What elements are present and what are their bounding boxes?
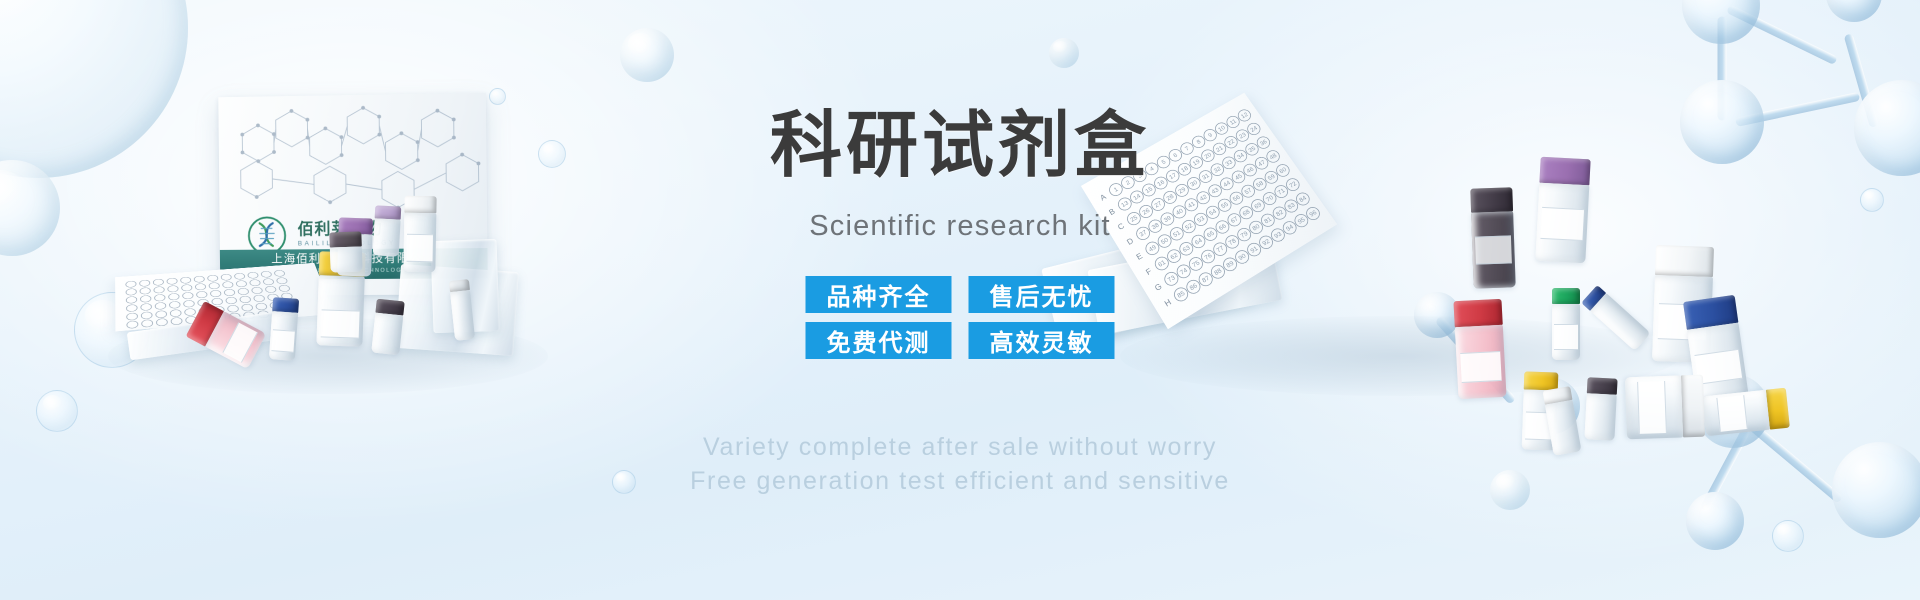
footer-tagline-line2: Free generation test efficient and sensi… [690,464,1230,498]
page-subtitle: Scientific research kit [809,212,1111,241]
feature-badge-aftersale[interactable]: 售后无忧 [969,276,1115,313]
page-title: 科研试剂盒 [770,110,1150,182]
feature-badge-sensitive[interactable]: 高效灵敏 [969,322,1115,359]
banner-root: 佰利莱生物 BAILILAI BIOLOGY 上海佰利莱生物科技有限公司 SHA… [0,0,1920,600]
feature-badge-variety[interactable]: 品种齐全 [806,276,952,313]
footer-tagline: Variety complete after sale without worr… [690,430,1230,498]
feature-badge-group: 品种齐全 售后无忧 免费代测 高效灵敏 [806,276,1115,359]
footer-tagline-line1: Variety complete after sale without worr… [690,430,1230,464]
banner-copy: 科研试剂盒 Scientific research kit 品种齐全 售后无忧 … [0,0,1920,600]
feature-badge-free-test[interactable]: 免费代测 [806,322,952,359]
